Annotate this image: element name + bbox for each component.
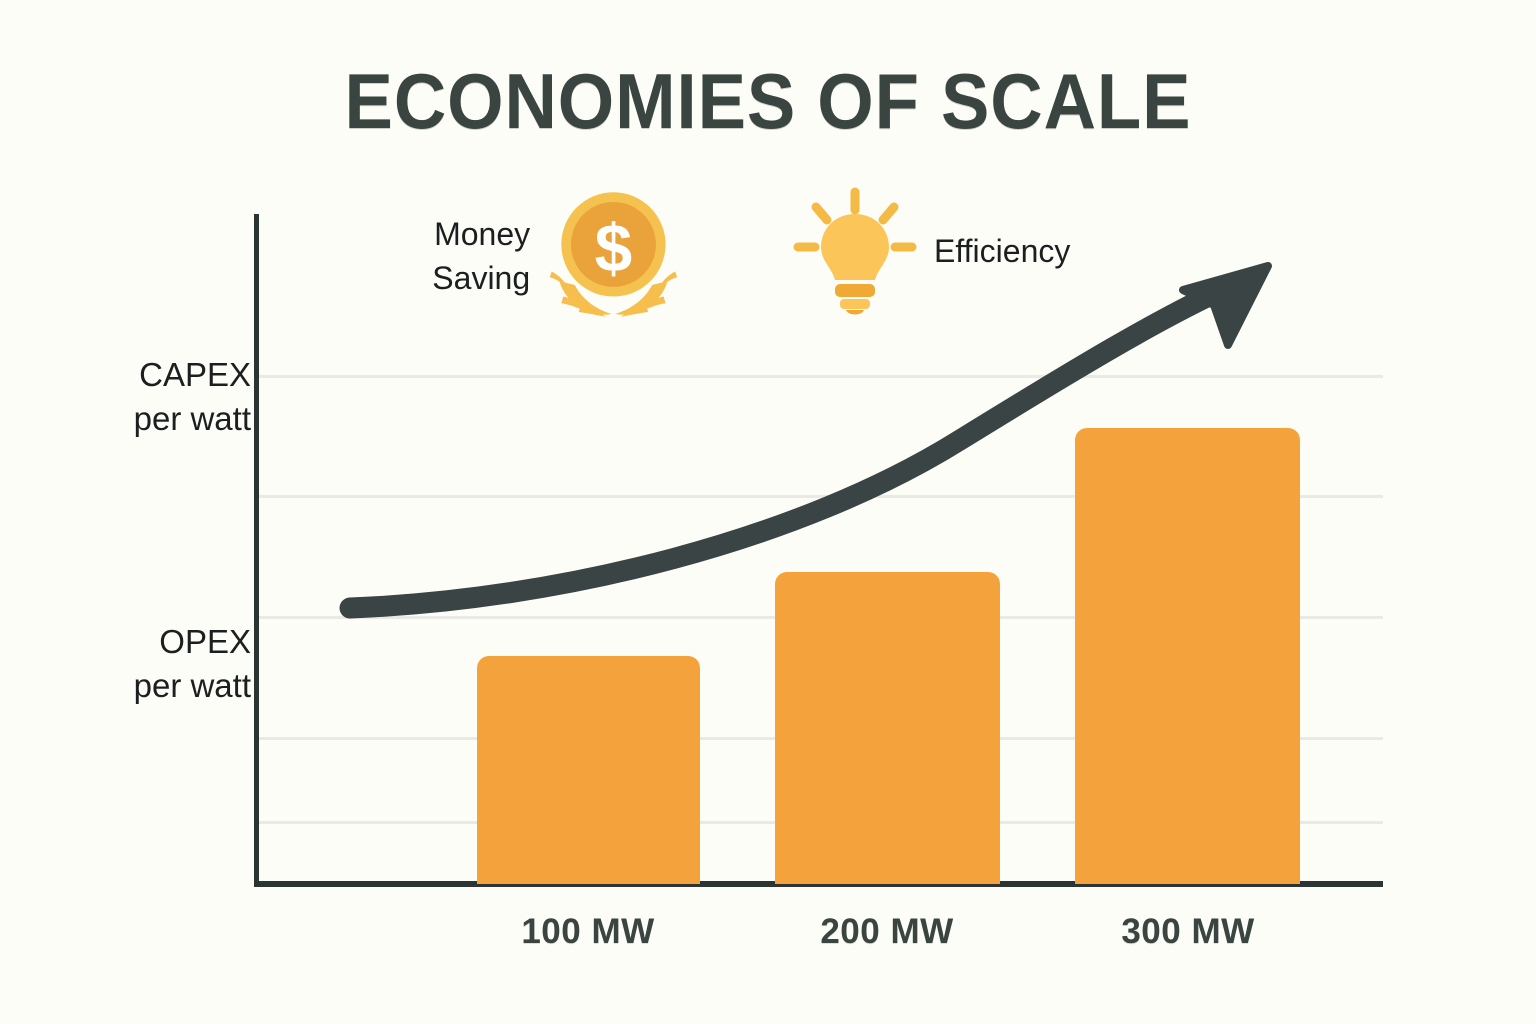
gridline [258,375,1383,378]
lightbulb-icon [790,186,920,316]
x-axis-label-300-mw: 300 MW [1058,908,1318,956]
bar-100-mw [477,656,700,884]
y-axis-line [254,214,259,886]
growth-trend-arrow-icon [0,0,1536,1024]
bar-300-mw [1075,428,1300,884]
legend-item-efficiency: Efficiency [790,186,1130,316]
legend-item-money-saving: Money Saving $ [395,186,685,326]
legend-label-money-saving: Money Saving [395,212,542,300]
chart-canvas: ECONOMIES OF SCALE CAPEX per watt OPEX p… [0,0,1536,1024]
bar-200-mw [775,572,1000,884]
x-axis-label-100-mw: 100 MW [458,908,718,956]
y-axis-label-capex: CAPEX per watt [21,353,251,441]
legend-label-efficiency: Efficiency [920,229,1070,273]
gold-coin-icon: $ [542,186,685,326]
svg-text:$: $ [595,211,633,286]
y-axis-label-opex: OPEX per watt [21,620,251,708]
plot-area: CAPEX per watt OPEX per watt 100 MW 200 … [0,0,1536,1024]
x-axis-label-200-mw: 200 MW [757,908,1017,956]
